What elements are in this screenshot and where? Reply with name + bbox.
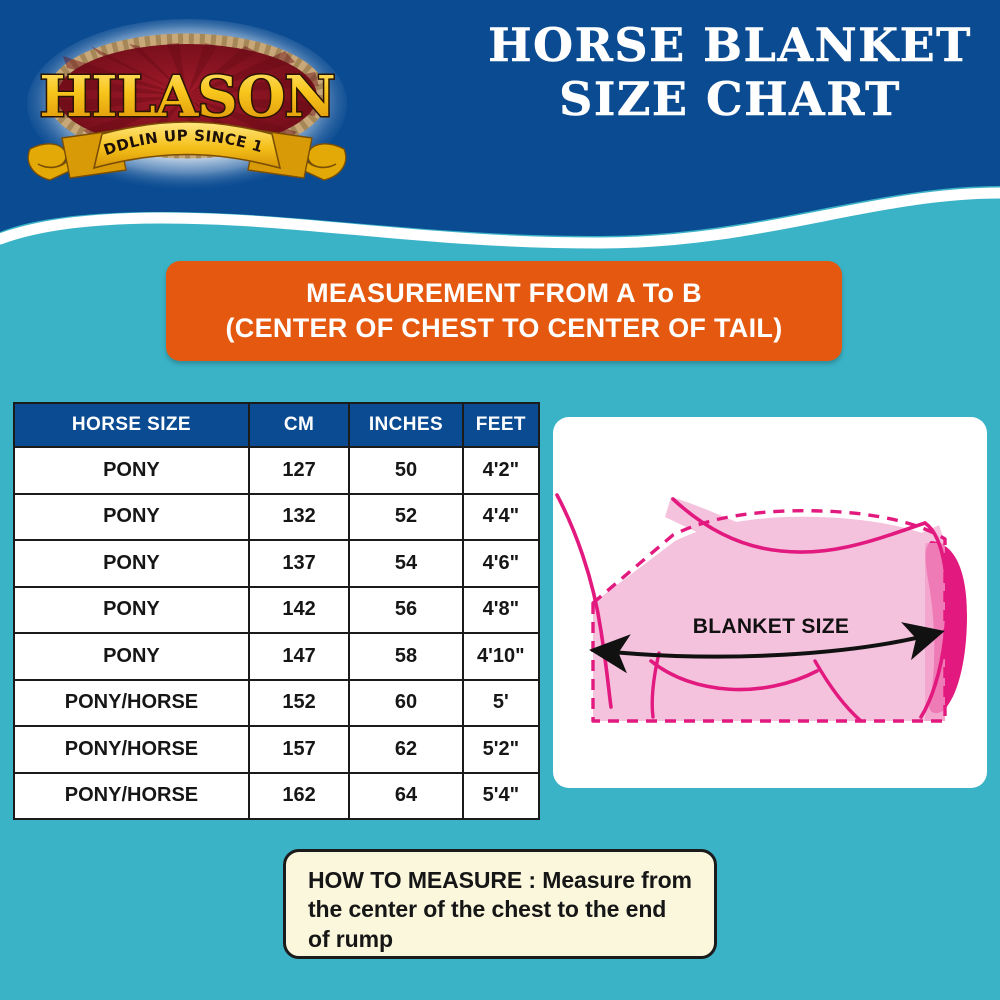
cell-cm: 152 bbox=[249, 680, 349, 727]
cell-feet: 4'6" bbox=[463, 540, 539, 587]
cell-horse-size: PONY bbox=[14, 447, 249, 494]
cell-horse-size: PONY bbox=[14, 587, 249, 634]
horse-diagram: BLANKET SIZE bbox=[553, 417, 987, 788]
cell-feet: 5' bbox=[463, 680, 539, 727]
title-line-1: HORSE BLANKET bbox=[470, 22, 990, 68]
cell-cm: 142 bbox=[249, 587, 349, 634]
cell-inches: 62 bbox=[349, 726, 462, 773]
table-row: PONY/HORSE 157 62 5'2" bbox=[14, 726, 539, 773]
cell-cm: 137 bbox=[249, 540, 349, 587]
hilason-logo: HILASON SADDLIN UP SINCE 1995 bbox=[22, 18, 352, 198]
table-row: PONY 147 58 4'10" bbox=[14, 633, 539, 680]
cell-cm: 157 bbox=[249, 726, 349, 773]
cell-horse-size: PONY bbox=[14, 633, 249, 680]
cell-inches: 60 bbox=[349, 680, 462, 727]
table-row: PONY/HORSE 162 64 5'4" bbox=[14, 773, 539, 820]
cell-cm: 162 bbox=[249, 773, 349, 820]
cell-feet: 4'2" bbox=[463, 447, 539, 494]
column-header-horse-size: HORSE SIZE bbox=[14, 403, 249, 447]
table-header-row: HORSE SIZE CM INCHES FEET bbox=[14, 403, 539, 447]
horse-illustration-card: BLANKET SIZE bbox=[553, 417, 987, 788]
cell-feet: 4'8" bbox=[463, 587, 539, 634]
column-header-feet: FEET bbox=[463, 403, 539, 447]
banner-line-1: MEASUREMENT FROM A To B bbox=[306, 276, 702, 311]
size-chart-page: HILASON SADDLIN UP SINCE 1995 HORSE BLAN… bbox=[0, 0, 1000, 1000]
cell-feet: 5'4" bbox=[463, 773, 539, 820]
measurement-banner: MEASUREMENT FROM A To B (CENTER OF CHEST… bbox=[166, 261, 842, 361]
cell-inches: 64 bbox=[349, 773, 462, 820]
cell-inches: 54 bbox=[349, 540, 462, 587]
cell-horse-size: PONY/HORSE bbox=[14, 773, 249, 820]
how-to-measure-note: HOW TO MEASURE : Measure from the center… bbox=[283, 849, 717, 959]
table-row: PONY 142 56 4'8" bbox=[14, 587, 539, 634]
table-row: PONY 127 50 4'2" bbox=[14, 447, 539, 494]
cell-inches: 52 bbox=[349, 494, 462, 541]
how-to-measure-text: HOW TO MEASURE : Measure from the center… bbox=[308, 866, 694, 954]
table-row: PONY 132 52 4'4" bbox=[14, 494, 539, 541]
cell-cm: 127 bbox=[249, 447, 349, 494]
banner-line-2: (CENTER OF CHEST TO CENTER OF TAIL) bbox=[226, 311, 783, 346]
cell-horse-size: PONY/HORSE bbox=[14, 680, 249, 727]
cell-inches: 58 bbox=[349, 633, 462, 680]
table-row: PONY 137 54 4'6" bbox=[14, 540, 539, 587]
cell-horse-size: PONY bbox=[14, 494, 249, 541]
page-title: HORSE BLANKET SIZE CHART bbox=[470, 22, 990, 130]
cell-feet: 4'4" bbox=[463, 494, 539, 541]
cell-cm: 132 bbox=[249, 494, 349, 541]
blanket-size-label: BLANKET SIZE bbox=[693, 615, 849, 638]
table-row: PONY/HORSE 152 60 5' bbox=[14, 680, 539, 727]
cell-inches: 56 bbox=[349, 587, 462, 634]
logo-wordmark: HILASON bbox=[39, 64, 334, 130]
title-line-2: SIZE CHART bbox=[470, 76, 990, 122]
column-header-inches: INCHES bbox=[349, 403, 462, 447]
cell-feet: 5'2" bbox=[463, 726, 539, 773]
cell-feet: 4'10" bbox=[463, 633, 539, 680]
cell-cm: 147 bbox=[249, 633, 349, 680]
cell-horse-size: PONY/HORSE bbox=[14, 726, 249, 773]
size-chart-table: HORSE SIZE CM INCHES FEET PONY 127 50 4'… bbox=[13, 402, 540, 820]
column-header-cm: CM bbox=[249, 403, 349, 447]
cell-horse-size: PONY bbox=[14, 540, 249, 587]
cell-inches: 50 bbox=[349, 447, 462, 494]
